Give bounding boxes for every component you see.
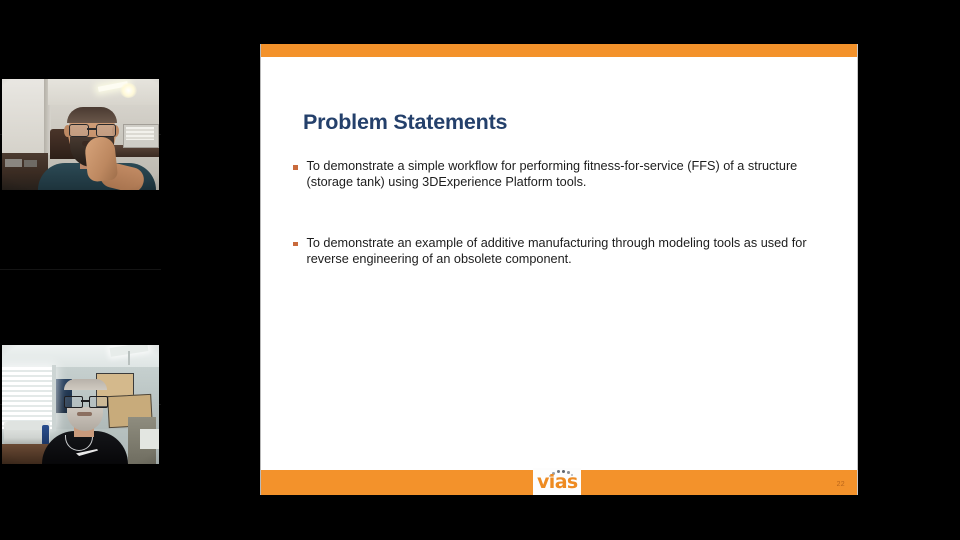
letterbox-left (161, 44, 260, 495)
bullet-square-icon (293, 242, 298, 247)
slide-top-accent-bar (261, 44, 857, 57)
list-item: To demonstrate a simple workflow for per… (293, 158, 827, 191)
slide-page-number: 22 (837, 481, 845, 488)
page-title: Problem Statements (303, 110, 507, 135)
bullet-square-icon (293, 165, 298, 170)
participant-video-feed[interactable] (2, 79, 159, 190)
screen-share-viewer: Problem Statements To demonstrate a simp… (0, 0, 960, 540)
participant-video-feed[interactable] (2, 345, 159, 464)
logo-wordmark: vias (537, 472, 578, 492)
video-vignette (2, 79, 159, 190)
vias-logo: vias (533, 468, 581, 495)
list-item-text: To demonstrate an example of additive ma… (307, 235, 828, 268)
letterbox-top (161, 0, 960, 44)
list-item: To demonstrate an example of additive ma… (293, 235, 827, 268)
letterbox-bottom (161, 495, 960, 540)
shared-slide[interactable]: Problem Statements To demonstrate a simp… (260, 44, 858, 495)
participant-filmstrip[interactable] (0, 0, 161, 540)
video-vignette (2, 345, 159, 464)
letterbox-right (858, 0, 960, 540)
list-item-text: To demonstrate a simple workflow for per… (307, 158, 828, 191)
bullet-list: To demonstrate a simple workflow for per… (293, 158, 827, 312)
